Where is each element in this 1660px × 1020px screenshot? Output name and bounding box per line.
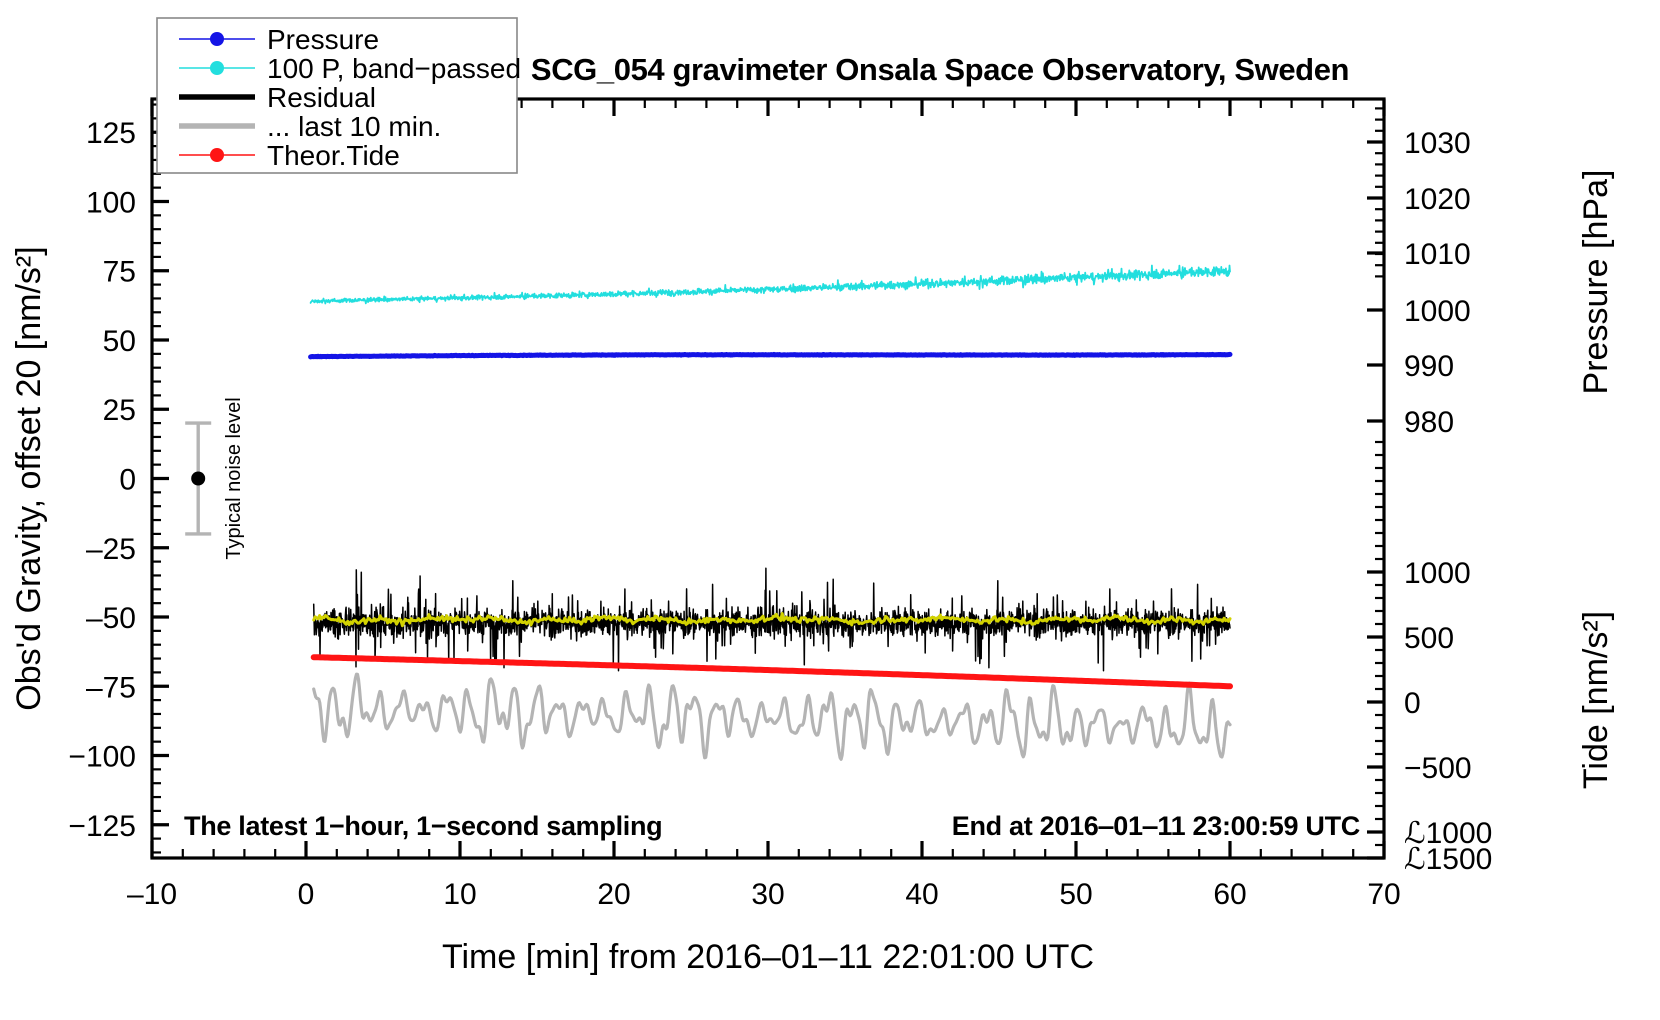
pressure-tick-label: 1000 [1404, 295, 1471, 328]
y-axis-title: Obs'd Gravity, offset 20 [nm/s²] [10, 246, 48, 710]
x-tick-label: 50 [1059, 878, 1092, 911]
x-tick-label: 40 [905, 878, 938, 911]
y-tick-label: 75 [103, 256, 136, 289]
legend[interactable]: Pressure100 P, band−passedResidual... la… [157, 18, 521, 173]
pressure-tick-label: 980 [1404, 406, 1454, 439]
chart-title: SCG_054 gravimeter Onsala Space Observat… [531, 52, 1349, 87]
noise-marker-label: Typical noise level [223, 397, 245, 559]
series-theor-tide [314, 657, 1230, 686]
legend-marker-dot [210, 32, 224, 46]
y-axis-right-tide: 10005000−500ℒ1000ℒ1500 [1367, 442, 1492, 876]
x-tick-label: 0 [298, 878, 315, 911]
x-tick-label: 30 [751, 878, 784, 911]
series-pressure [311, 354, 1230, 357]
tide-tick-label: 0 [1404, 687, 1421, 720]
x-tick-label: 60 [1213, 878, 1246, 911]
y-axis-left: 1251007550250‒25‒50‒75−100−125 [68, 105, 169, 853]
pressure-tick-label: 990 [1404, 350, 1454, 383]
x-axis: ‒10010203040506070 [127, 99, 1401, 911]
pressure-axis-title: Pressure [hPa] [1577, 170, 1615, 395]
legend-label: ... last 10 min. [267, 111, 441, 142]
tide-tick-label: ℒ1500 [1404, 843, 1492, 876]
y-tick-label: ‒75 [86, 671, 136, 704]
x-axis-title: Time [min] from 2016‒01‒11 22:01:00 UTC [442, 938, 1094, 976]
series-band-passed [311, 266, 1230, 304]
tide-tick-label: −500 [1404, 752, 1472, 785]
noise-marker-dot [191, 472, 205, 486]
y-tick-label: 25 [103, 394, 136, 427]
x-tick-label: 20 [597, 878, 630, 911]
tide-axis-title: Tide [nm/s²] [1577, 611, 1615, 789]
legend-label: 100 P, band−passed [267, 53, 521, 84]
y-tick-label: 50 [103, 325, 136, 358]
x-tick-label: ‒10 [127, 878, 177, 911]
typical-noise-marker: Typical noise level [185, 397, 245, 559]
legend-label: Residual [267, 82, 376, 113]
plot-frame [152, 99, 1384, 858]
y-tick-label: −100 [68, 741, 136, 774]
y-tick-label: 100 [86, 186, 136, 219]
footer-right: End at 2016‒01‒11 23:00:59 UTC [952, 811, 1360, 841]
pressure-tick-label: 1030 [1404, 127, 1471, 160]
tide-tick-label: 500 [1404, 622, 1454, 655]
y-tick-label: ‒50 [86, 602, 136, 635]
legend-marker-dot [210, 61, 224, 75]
gravimeter-plot: ‒10010203040506070Time [min] from 2016‒0… [0, 0, 1660, 1020]
legend-label: Theor.Tide [267, 140, 400, 171]
y-tick-label: 125 [86, 117, 136, 150]
tide-tick-label: 1000 [1404, 557, 1471, 590]
x-tick-label: 10 [443, 878, 476, 911]
series-last-10-min [314, 674, 1230, 759]
y-tick-label: ‒25 [86, 533, 136, 566]
x-tick-label: 70 [1367, 878, 1400, 911]
pressure-tick-label: 1010 [1404, 238, 1471, 271]
pressure-tick-label: 1020 [1404, 183, 1471, 216]
y-tick-label: −125 [68, 810, 136, 843]
chart-canvas: ‒10010203040506070Time [min] from 2016‒0… [0, 0, 1660, 1020]
footer-left: The latest 1−hour, 1−second sampling [184, 811, 662, 841]
y-tick-label: 0 [119, 464, 136, 497]
legend-marker-dot [210, 148, 224, 162]
legend-label: Pressure [267, 24, 379, 55]
